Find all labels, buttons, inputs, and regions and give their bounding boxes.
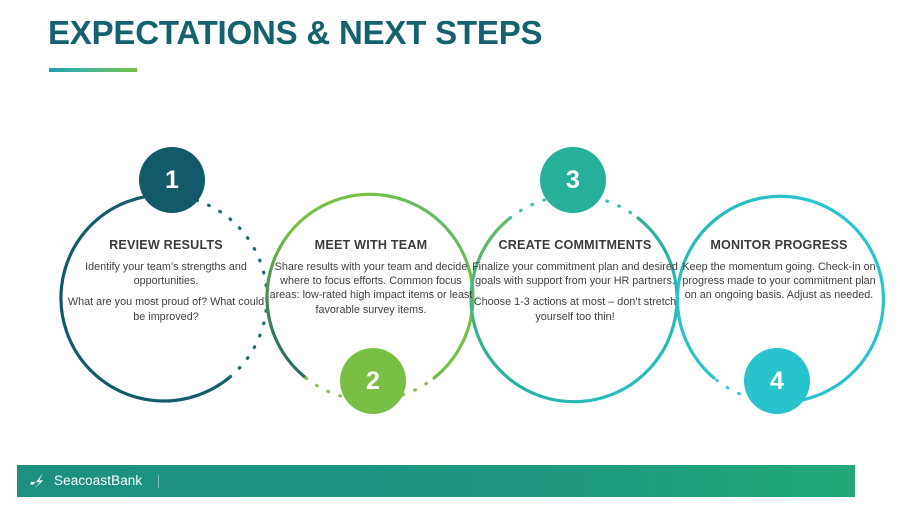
step-4-content: MONITOR PROGRESS Keep the momentum going… [676, 238, 882, 303]
step-1-paragraph-2: What are you most proud of? What could b… [63, 295, 269, 323]
footer-divider [158, 475, 159, 488]
step-3-heading: CREATE COMMITMENTS [472, 238, 678, 252]
step-3-paragraph-1: Finalize your commitment plan and desire… [472, 260, 678, 288]
slide-canvas: EXPECTATIONS & NEXT STEPS [0, 0, 900, 506]
step-3-content: CREATE COMMITMENTS Finalize your commitm… [472, 238, 678, 324]
step-4-heading: MONITOR PROGRESS [676, 238, 882, 252]
step-1-paragraph-1: Identify your team’s strengths and oppor… [63, 260, 269, 288]
step-2-content: MEET WITH TEAM Share results with your t… [268, 238, 474, 317]
step-1-heading: REVIEW RESULTS [63, 238, 269, 252]
sail-wave-logo-icon [29, 471, 49, 491]
step-2-paragraph-1: Share results with your team and decide … [268, 260, 474, 317]
step-3-paragraph-2: Choose 1-3 actions at most – don’t stret… [472, 295, 678, 323]
footer-bar: SeacoastBank [17, 465, 855, 497]
step-2-number-badge: 2 [340, 348, 406, 414]
process-diagram: REVIEW RESULTS Identify your team’s stre… [0, 120, 900, 430]
step-2-heading: MEET WITH TEAM [268, 238, 474, 252]
step-3-number-badge: 3 [540, 147, 606, 213]
step-1-number-badge: 1 [139, 147, 205, 213]
footer-brand-name: SeacoastBank [54, 473, 142, 488]
step-4-paragraph-1: Keep the momentum going. Check-in on pro… [676, 260, 882, 303]
page-title: EXPECTATIONS & NEXT STEPS [48, 14, 542, 52]
step-1-content: REVIEW RESULTS Identify your team’s stre… [63, 238, 269, 324]
title-underline-accent [49, 68, 137, 72]
step-4-number-badge: 4 [744, 348, 810, 414]
